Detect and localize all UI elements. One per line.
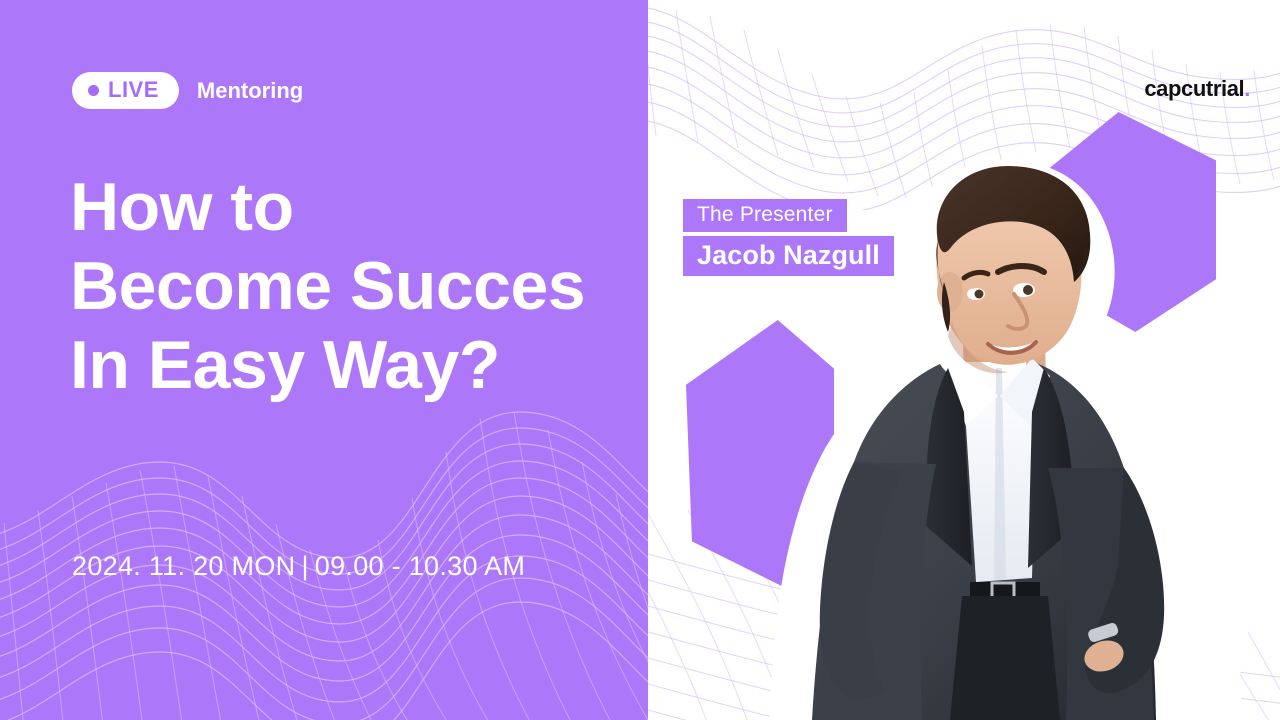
presenter-role-label: The Presenter <box>683 199 847 232</box>
right-panel: The Presenter Jacob Nazgull capcutrial. <box>648 0 1280 720</box>
schedule-date: 2024. 11. 20 MON <box>72 551 295 581</box>
hexagon-decoration-right <box>1048 112 1216 332</box>
headline-line-1: How to <box>70 168 630 247</box>
presenter-name: Jacob Nazgull <box>683 236 894 276</box>
headline-line-2: Become Succes <box>70 247 630 326</box>
schedule-time: 09.00 - 10.30 AM <box>315 551 525 581</box>
headline-line-3: In Easy Way? <box>70 326 630 405</box>
brand-name: capcutrial <box>1144 76 1244 101</box>
presenter-info: The Presenter Jacob Nazgull <box>683 199 894 276</box>
brand-dot: . <box>1244 76 1250 101</box>
page-title: How to Become Succes In Easy Way? <box>70 168 630 405</box>
brand-logo[interactable]: capcutrial. <box>1144 76 1250 102</box>
live-badge[interactable]: LIVE <box>72 72 179 109</box>
live-dot-icon <box>88 85 99 96</box>
schedule-line: 2024. 11. 20 MON|09.00 - 10.30 AM <box>72 551 525 582</box>
schedule-separator: | <box>295 551 314 581</box>
category-label: Mentoring <box>197 80 303 102</box>
live-badge-row: LIVE Mentoring <box>72 72 303 109</box>
hexagon-decoration-left <box>686 320 834 590</box>
left-panel: LIVE Mentoring How to Become Succes In E… <box>0 0 648 720</box>
webinar-poster: LIVE Mentoring How to Become Succes In E… <box>0 0 1280 720</box>
live-label: LIVE <box>108 79 159 101</box>
